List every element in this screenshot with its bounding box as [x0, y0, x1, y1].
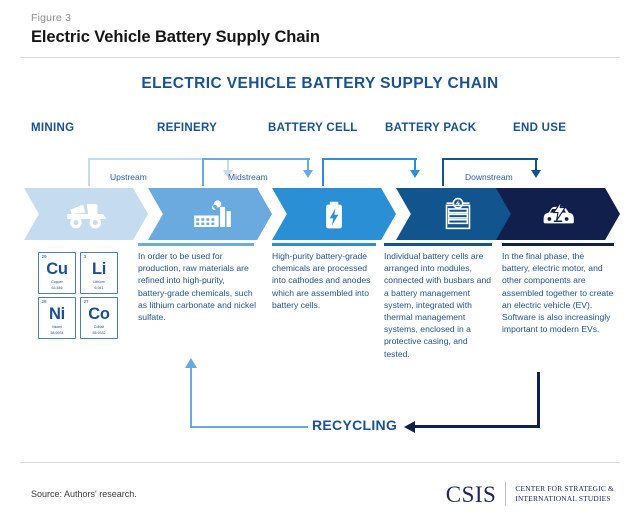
- battery-pack-icon: [435, 195, 481, 233]
- stage-description-battery-pack: Individual battery cells are arranged in…: [384, 250, 494, 360]
- recycle-arrow-up: [185, 358, 197, 368]
- stage-heading-end-use: END USE: [513, 122, 566, 134]
- recycling-label: RECYCLING: [312, 417, 397, 433]
- recycle-arrow-left: [404, 421, 415, 433]
- element-name: Copper: [39, 280, 75, 284]
- stage-description-battery-cell: High-purity battery-grade chemicals are …: [272, 250, 378, 311]
- element-symbol: Cu: [39, 261, 75, 278]
- recycle-line-vertical-left: [190, 367, 192, 428]
- element-name: Lithium: [81, 280, 117, 284]
- element-mass: 6.941: [81, 286, 117, 290]
- source-note: Source: Authors' research.: [31, 489, 137, 499]
- battery-bolt-icon: [311, 195, 357, 233]
- desc-rule-battery-cell: [272, 243, 376, 246]
- stage-chevron-battery-cell: [272, 188, 396, 240]
- desc-rule-refinery: [138, 243, 254, 246]
- csis-tagline-line2: INTERNATIONAL STUDIES: [515, 494, 614, 504]
- csis-tagline-line1: CENTER FOR STRATEGIC &: [515, 484, 614, 494]
- header-divider: [20, 57, 620, 58]
- recycle-line-bottom-right: [414, 425, 540, 428]
- element-number: 28: [42, 299, 47, 304]
- stream-label-upstream: Upstream: [110, 172, 147, 182]
- figure-title: Electric Vehicle Battery Supply Chain: [31, 28, 320, 47]
- element-mass: 58.9332: [81, 331, 117, 335]
- bracket-cell-to-pack: [322, 158, 417, 184]
- infographic-page: Figure 3 Electric Vehicle Battery Supply…: [0, 0, 640, 524]
- factory-icon: [187, 195, 233, 233]
- csis-tagline: CENTER FOR STRATEGIC & INTERNATIONAL STU…: [515, 484, 614, 503]
- stage-chevron-mining: [24, 188, 148, 240]
- chart-title: ELECTRIC VEHICLE BATTERY SUPPLY CHAIN: [0, 75, 640, 93]
- recycle-line-bottom-left: [190, 426, 308, 428]
- figure-label: Figure 3: [31, 12, 71, 24]
- recycle-line-vertical-right: [537, 372, 540, 428]
- element-tile-co: 27 Co Cobalt 58.9332: [80, 297, 118, 339]
- stage-heading-mining: MINING: [31, 122, 74, 134]
- csis-logo: CSIS CENTER FOR STRATEGIC & INTERNATIONA…: [446, 482, 614, 506]
- csis-logo-divider: [505, 482, 506, 506]
- element-name: Nickel: [39, 325, 75, 329]
- element-mass: 63.546: [39, 286, 75, 290]
- stream-label-downstream: Downstream: [465, 172, 513, 182]
- element-number: 3: [84, 254, 87, 259]
- electric-car-icon: [535, 195, 581, 233]
- stream-label-midstream: Midstream: [228, 172, 268, 182]
- stage-description-refinery: In order to be used for production, raw …: [138, 250, 256, 323]
- stage-description-end-use: In the final phase, the battery, electri…: [502, 250, 614, 335]
- csis-wordmark: CSIS: [446, 483, 497, 506]
- element-symbol: Li: [81, 261, 117, 278]
- stage-heading-battery-cell: BATTERY CELL: [268, 122, 358, 134]
- desc-rule-end-use: [502, 243, 614, 246]
- element-number: 27: [84, 299, 89, 304]
- element-tile-ni: 28 Ni Nickel 58.6934: [38, 297, 76, 339]
- element-symbol: Ni: [39, 306, 75, 323]
- stage-heading-refinery: REFINERY: [157, 122, 217, 134]
- element-symbol: Co: [81, 306, 117, 323]
- stage-chevron-refinery: [148, 188, 272, 240]
- element-mass: 58.6934: [39, 331, 75, 335]
- mining-truck-icon: [63, 195, 109, 233]
- element-number: 29: [42, 254, 47, 259]
- element-tile-cu: 29 Cu Copper 63.546: [38, 252, 76, 294]
- stage-heading-battery-pack: BATTERY PACK: [385, 122, 476, 134]
- footer-divider: [20, 462, 620, 463]
- element-name: Cobalt: [81, 325, 117, 329]
- stage-chevron-end-use: [496, 188, 620, 240]
- element-tile-li: 3 Li Lithium 6.941: [80, 252, 118, 294]
- desc-rule-battery-pack: [384, 243, 492, 246]
